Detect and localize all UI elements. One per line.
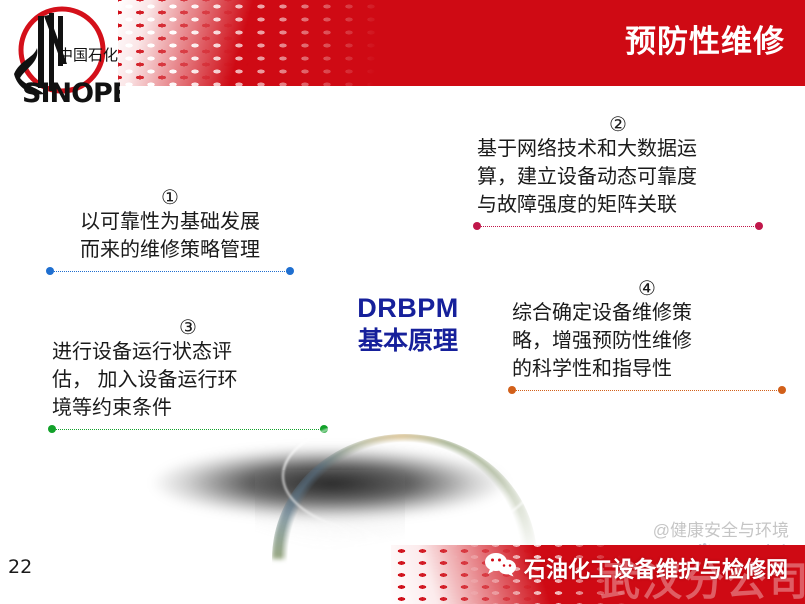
concept-block-3: ③ 进行设备运行状态评 估， 加入设备运行环 境等约束条件 [48, 316, 328, 434]
watermark-hse: @健康安全与环境 [653, 516, 789, 541]
rule-cap-right [320, 425, 328, 433]
block-1-rule [46, 267, 294, 276]
concept-block-2: ② 基于网络技术和大数据运 算，建立设备动态可靠度 与故障强度的矩阵关联 [473, 113, 763, 231]
block-2-number: ② [473, 113, 763, 135]
slide-canvas: 预防性维修 SINOPEC 中国石化 ① 以可靠性为基础发展 而来的维修策略管理 [0, 0, 805, 604]
sinopec-wordmark: SINOPEC [22, 78, 120, 109]
block-3-rule [48, 425, 328, 434]
page-number: 22 [8, 556, 32, 578]
block-1-text: 以可靠性为基础发展 而来的维修策略管理 [46, 208, 294, 264]
block-1-number: ① [46, 186, 294, 208]
rule-line [513, 390, 781, 391]
rule-line [478, 226, 758, 227]
block-2-rule [473, 222, 763, 231]
concept-block-1: ① 以可靠性为基础发展 而来的维修策略管理 [46, 186, 294, 276]
sinopec-chinese-text: 中国石化 [58, 46, 118, 64]
decorative-shadow-ellipse [120, 424, 540, 542]
rule-cap-right [778, 386, 786, 394]
block-4-text: 综合确定设备维修策 略，增强预防性维修 的科学性和指导性 [508, 299, 786, 383]
block-3-text: 进行设备运行状态评 估， 加入设备运行环 境等约束条件 [48, 338, 328, 422]
concept-block-4: ④ 综合确定设备维修策 略，增强预防性维修 的科学性和指导性 [508, 277, 786, 395]
rule-cap-right [286, 267, 294, 275]
footer-red-band [391, 545, 805, 604]
center-label: DRBPM 基本原理 [333, 292, 483, 358]
block-3-number: ③ [48, 316, 328, 338]
block-4-number: ④ [508, 277, 786, 299]
header-red-band: 预防性维修 [118, 0, 805, 86]
center-label-cn: 基本原理 [333, 325, 483, 358]
rule-line [51, 271, 289, 272]
header-halftone-red-dots [118, 0, 418, 86]
arc-white-highlight [282, 428, 536, 538]
block-4-rule [508, 386, 786, 395]
rule-cap-right [755, 222, 763, 230]
block-2-text: 基于网络技术和大数据运 算，建立设备动态可靠度 与故障强度的矩阵关联 [473, 135, 763, 219]
decorative-gray-swoosh [255, 470, 405, 604]
footer-halftone-white-dots [391, 545, 641, 604]
center-label-en: DRBPM [333, 292, 483, 325]
page-title: 预防性维修 [625, 22, 785, 62]
sinopec-logo: SINOPEC 中国石化 [4, 2, 120, 114]
rule-line [53, 429, 323, 430]
